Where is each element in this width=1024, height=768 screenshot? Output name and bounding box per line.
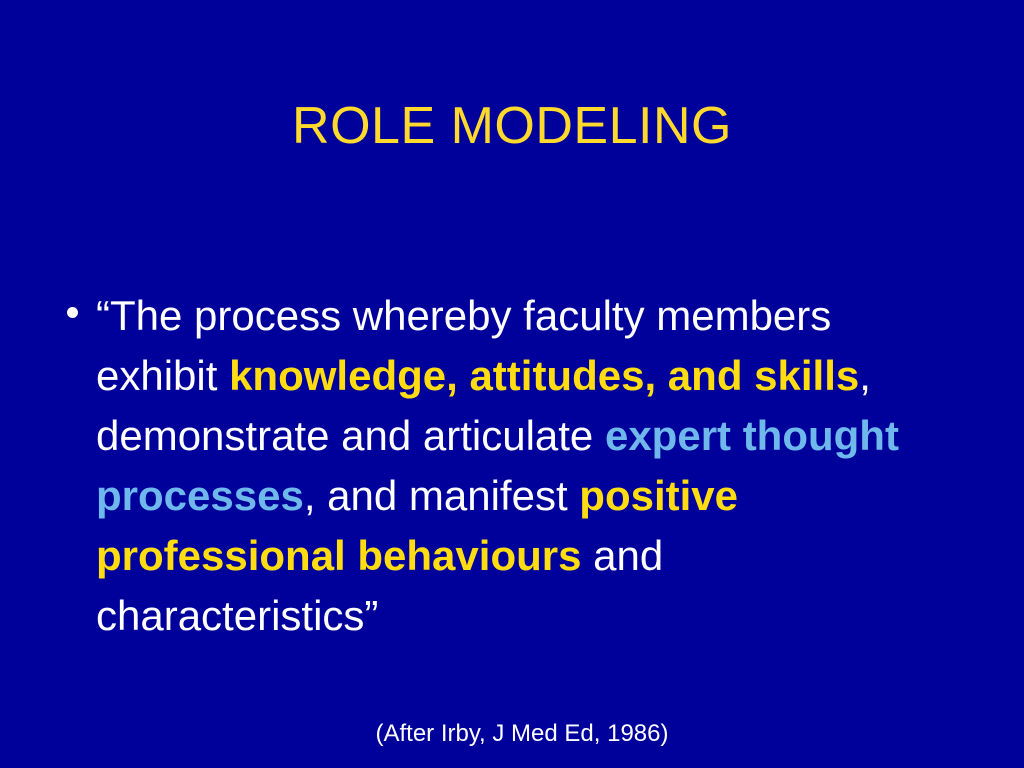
source-citation: (After Irby, J Med Ed, 1986): [0, 719, 1024, 749]
page-title: ROLE MODELING: [0, 96, 1024, 156]
slide-canvas: ROLE MODELING “The process whereby facul…: [0, 0, 1024, 768]
list-item: “The process whereby faculty members exh…: [60, 286, 960, 646]
quote-segment-highlight-knowledge: knowledge, attitudes, and skills: [229, 352, 859, 399]
quote-segment-plain-3: , and manifest: [304, 472, 579, 519]
disc-bullet-icon: [67, 307, 78, 318]
body-content: “The process whereby faculty members exh…: [60, 286, 960, 646]
quote-paragraph: “The process whereby faculty members exh…: [96, 286, 926, 646]
